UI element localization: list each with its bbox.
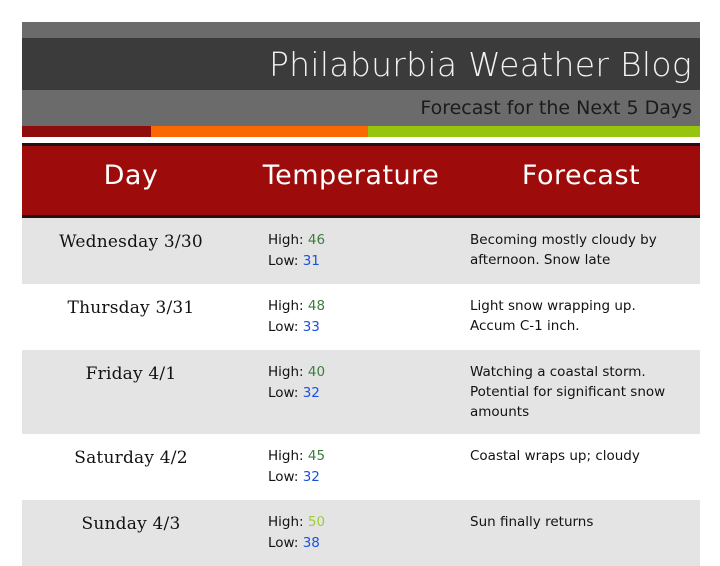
temp-low-line: Low: 38 [268,533,462,554]
temp-high-line: High: 45 [268,446,462,467]
temp-low-value: 31 [298,253,319,269]
temp-low-value: 38 [298,535,319,551]
temp-low-value: 32 [298,469,319,485]
cell-temperature: High: 48Low: 33 [240,284,462,350]
temp-high-value: 48 [304,298,325,314]
temp-high-label: High: [268,364,304,380]
temp-high-value: 50 [304,514,325,530]
temp-high-line: High: 46 [268,230,462,251]
cell-day: Wednesday 3/30 [22,217,240,284]
header-band-title: Philaburbia Weather Blog [22,38,700,90]
temp-low-label: Low: [268,469,298,485]
cell-day: Thursday 3/31 [22,284,240,350]
cell-day: Saturday 4/2 [22,434,240,500]
temp-low-label: Low: [268,535,298,551]
column-header-forecast: Forecast [462,145,700,217]
cell-temperature: High: 40Low: 32 [240,350,462,435]
accent-segment-orange [151,126,368,137]
temp-high-line: High: 48 [268,296,462,317]
accent-segment-green [368,126,700,137]
page-subtitle: Forecast for the Next 5 Days [420,99,692,118]
temp-high-line: High: 40 [268,362,462,383]
temp-low-label: Low: [268,385,298,401]
accent-segment-dark-red [22,126,151,137]
forecast-table: Day Temperature Forecast Wednesday 3/30H… [22,143,700,566]
temp-low-value: 32 [298,385,319,401]
temp-high-value: 46 [304,232,325,248]
cell-day: Friday 4/1 [22,350,240,435]
temp-high-value: 40 [304,364,325,380]
table-row: Sunday 4/3High: 50Low: 38Sun finally ret… [22,500,700,566]
cell-forecast: Becoming mostly cloudy by afternoon. Sno… [462,217,700,284]
page-header-banner: Philaburbia Weather Blog Forecast for th… [22,22,700,137]
cell-forecast: Coastal wraps up; cloudy [462,434,700,500]
table-row: Thursday 3/31High: 48Low: 33Light snow w… [22,284,700,350]
cell-temperature: High: 50Low: 38 [240,500,462,566]
cell-temperature: High: 45Low: 32 [240,434,462,500]
header-band-subtitle: Forecast for the Next 5 Days [22,90,700,126]
table-header-row: Day Temperature Forecast [22,145,700,217]
temp-high-label: High: [268,232,304,248]
table-row: Saturday 4/2High: 45Low: 32Coastal wraps… [22,434,700,500]
temp-high-label: High: [268,448,304,464]
table-row: Friday 4/1High: 40Low: 32Watching a coas… [22,350,700,435]
header-band-top [22,22,700,38]
cell-temperature: High: 46Low: 31 [240,217,462,284]
temp-low-line: Low: 32 [268,467,462,488]
page-title: Philaburbia Weather Blog [269,48,692,81]
temp-low-line: Low: 31 [268,251,462,272]
temp-low-line: Low: 32 [268,383,462,404]
forecast-table-header: Day Temperature Forecast [22,145,700,217]
cell-forecast: Watching a coastal storm. Potential for … [462,350,700,435]
cell-forecast: Sun finally returns [462,500,700,566]
accent-color-bar [22,126,700,137]
temp-low-label: Low: [268,253,298,269]
column-header-day: Day [22,145,240,217]
column-header-temperature: Temperature [240,145,462,217]
cell-forecast: Light snow wrapping up. Accum C-1 inch. [462,284,700,350]
temp-high-value: 45 [304,448,325,464]
cell-day: Sunday 4/3 [22,500,240,566]
table-row: Wednesday 3/30High: 46Low: 31Becoming mo… [22,217,700,284]
temp-high-label: High: [268,514,304,530]
forecast-table-body: Wednesday 3/30High: 46Low: 31Becoming mo… [22,217,700,566]
temp-low-label: Low: [268,319,298,335]
temp-low-line: Low: 33 [268,317,462,338]
temp-high-line: High: 50 [268,512,462,533]
temp-high-label: High: [268,298,304,314]
temp-low-value: 33 [298,319,319,335]
